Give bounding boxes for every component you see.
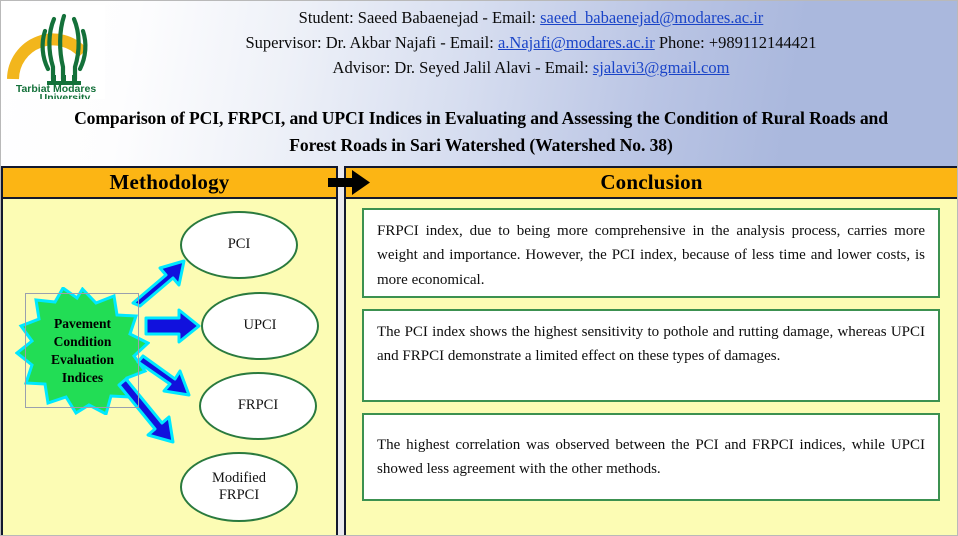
central-node: Pavement Condition Evaluation Indices [15,287,150,415]
conclusion-box-3-text: The highest correlation was observed bet… [377,433,925,482]
conclusion-panel: FRPCI index, due to being more comprehen… [346,199,958,536]
central-node-label: Pavement Condition Evaluation Indices [15,287,150,415]
contact-line-student: Student: Saeed Babaenejad - Email: saeed… [111,5,951,30]
conclusion-box-1-text: FRPCI index, due to being more comprehen… [377,223,925,288]
methodology-panel: Pavement Condition Evaluation Indices PC… [1,199,336,536]
logo-text-line2: University [40,92,91,99]
contact-line-supervisor: Supervisor: Dr. Akbar Najafi - Email: a.… [111,30,951,55]
university-logo: Tarbiat Modares University [7,5,105,99]
methodology-diagram: Pavement Condition Evaluation Indices PC… [3,199,338,536]
conclusion-box-1: FRPCI index, due to being more comprehen… [362,208,940,298]
section-header-conclusion-label: Conclusion [600,170,702,195]
student-email-link[interactable]: saeed_babaenejad@modares.ac.ir [540,8,763,27]
contact-line-advisor: Advisor: Dr. Seyed Jalil Alavi - Email: … [111,55,951,80]
arrow-to-upci [146,310,199,342]
right-arrow-icon [326,167,372,198]
section-header-methodology-label: Methodology [109,170,229,195]
section-band: Methodology Conclusion [1,166,958,199]
poster-header: Tarbiat Modares University Student: Saee… [1,1,958,166]
section-header-methodology: Methodology [1,166,336,199]
page-title-line2: Forest Roads in Sari Watershed (Watershe… [9,132,953,159]
conclusion-list: FRPCI index, due to being more comprehen… [346,199,958,536]
conclusion-box-3: The highest correlation was observed bet… [362,413,940,501]
section-header-conclusion: Conclusion [346,166,958,199]
page-title-line1: Comparison of PCI, FRPCI, and UPCI Indic… [9,105,953,132]
university-logo-icon: Tarbiat Modares University [7,5,105,99]
poster-root: Tarbiat Modares University Student: Saee… [0,0,958,536]
contact-block: Student: Saeed Babaenejad - Email: saeed… [111,5,951,80]
conclusion-box-2: The PCI index shows the highest sensitiv… [362,309,940,402]
conclusion-box-2-text: The PCI index shows the highest sensitiv… [377,324,925,364]
panel-divider [336,166,346,536]
supervisor-email-link[interactable]: a.Najafi@modares.ac.ir [498,33,655,52]
page-title: Comparison of PCI, FRPCI, and UPCI Indic… [9,105,953,158]
advisor-email-link[interactable]: sjalavi3@gmail.com [593,58,730,77]
